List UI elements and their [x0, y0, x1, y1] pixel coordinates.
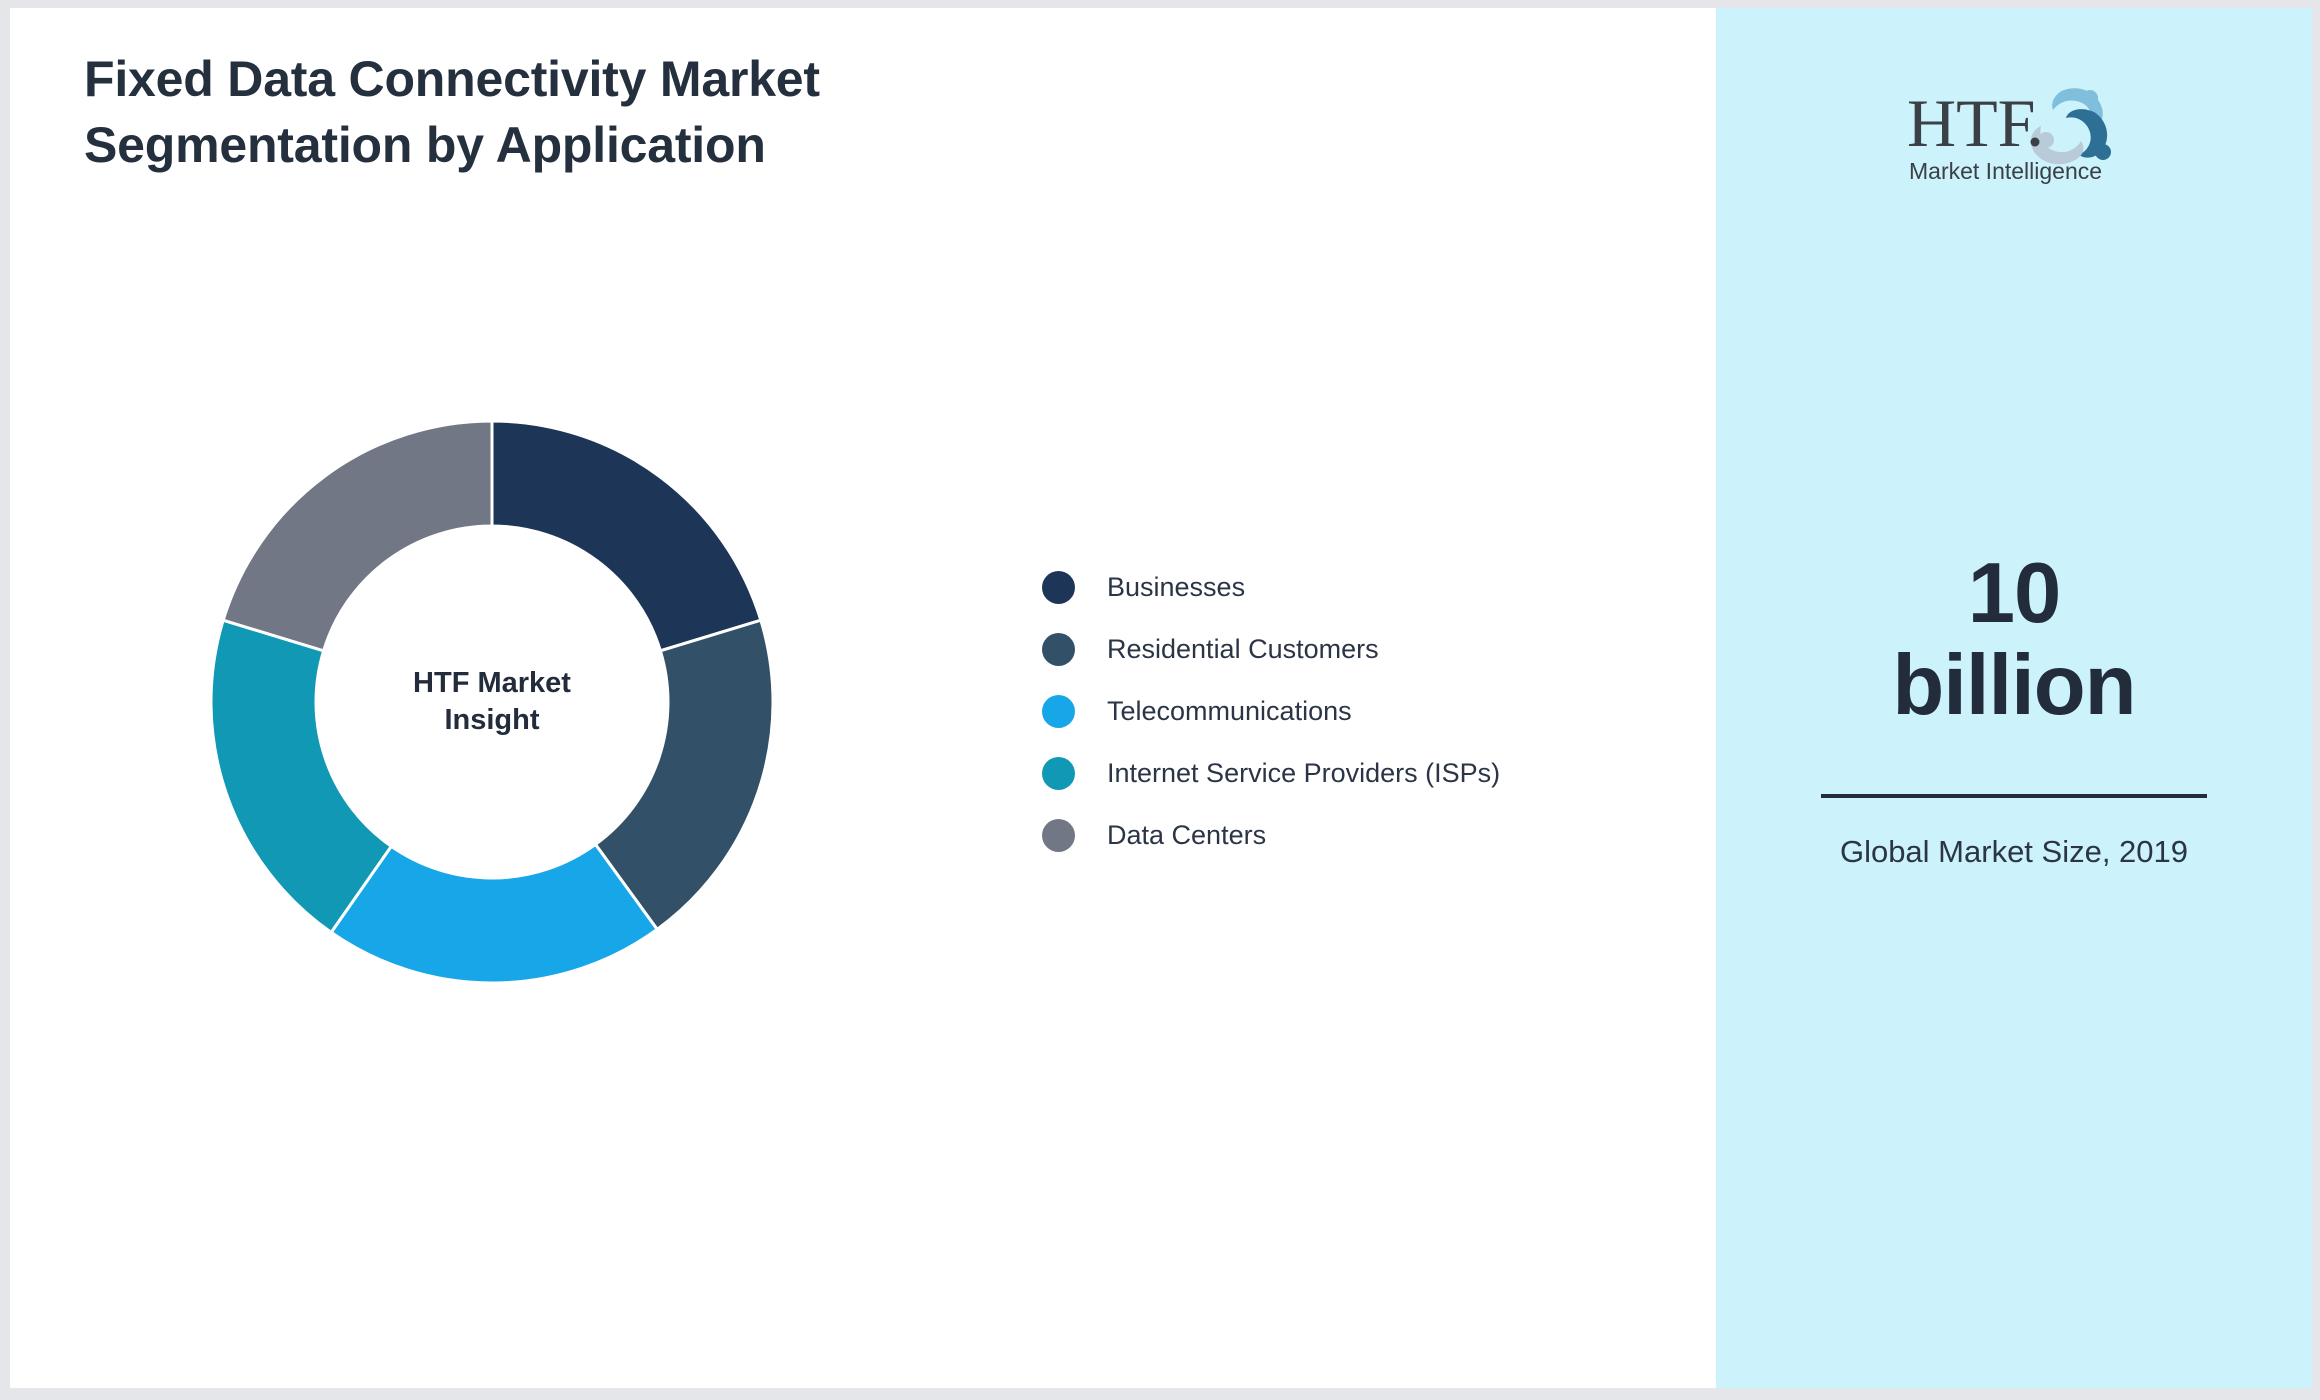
logo-dot-icon [2031, 138, 2040, 147]
legend-item: Telecommunications [1042, 680, 1602, 742]
legend-item: Residential Customers [1042, 618, 1602, 680]
legend-swatch-icon [1042, 819, 1075, 852]
htf-logo: HTF Market Intelligence [1889, 68, 2139, 186]
chart-legend: BusinessesResidential CustomersTelecommu… [1042, 556, 1602, 866]
page-title: Fixed Data Connectivity Market Segmentat… [84, 46, 1084, 178]
donut-slice [331, 844, 657, 983]
legend-item-label: Telecommunications [1107, 696, 1352, 727]
stat-value-line-1: 10 [1804, 548, 2224, 640]
htf-logo-svg: HTF Market Intelligence [1889, 68, 2139, 186]
legend-item: Data Centers [1042, 804, 1602, 866]
legend-swatch-icon [1042, 571, 1075, 604]
legend-item-label: Internet Service Providers (ISPs) [1107, 758, 1500, 789]
legend-item-label: Businesses [1107, 572, 1245, 603]
logo-swirl-icon [2031, 88, 2111, 164]
infographic-frame: Fixed Data Connectivity Market Segmentat… [10, 8, 2312, 1388]
legend-swatch-icon [1042, 695, 1075, 728]
donut-chart: HTF Market Insight [192, 402, 792, 1002]
legend-item-label: Data Centers [1107, 820, 1266, 851]
stat-divider [1821, 794, 2207, 798]
donut-chart-svg [192, 402, 792, 1002]
logo-tagline: Market Intelligence [1909, 158, 2102, 184]
stat-block: 10 billion Global Market Size, 2019 [1804, 548, 2224, 873]
screenshot-canvas: Fixed Data Connectivity Market Segmentat… [0, 0, 2320, 1400]
legend-item: Businesses [1042, 556, 1602, 618]
stat-caption: Global Market Size, 2019 [1804, 832, 2224, 873]
donut-slice [223, 421, 492, 651]
logo-wordmark: HTF [1907, 85, 2035, 161]
legend-swatch-icon [1042, 757, 1075, 790]
stat-value-line-2: billion [1804, 640, 2224, 732]
sidebar: HTF Market Intelligence 10 billion Globa… [1716, 8, 2312, 1388]
donut-slice [492, 421, 761, 651]
legend-item: Internet Service Providers (ISPs) [1042, 742, 1602, 804]
donut-slice [211, 620, 391, 932]
legend-swatch-icon [1042, 633, 1075, 666]
main-panel: Fixed Data Connectivity Market Segmentat… [10, 8, 1716, 1388]
legend-item-label: Residential Customers [1107, 634, 1379, 665]
